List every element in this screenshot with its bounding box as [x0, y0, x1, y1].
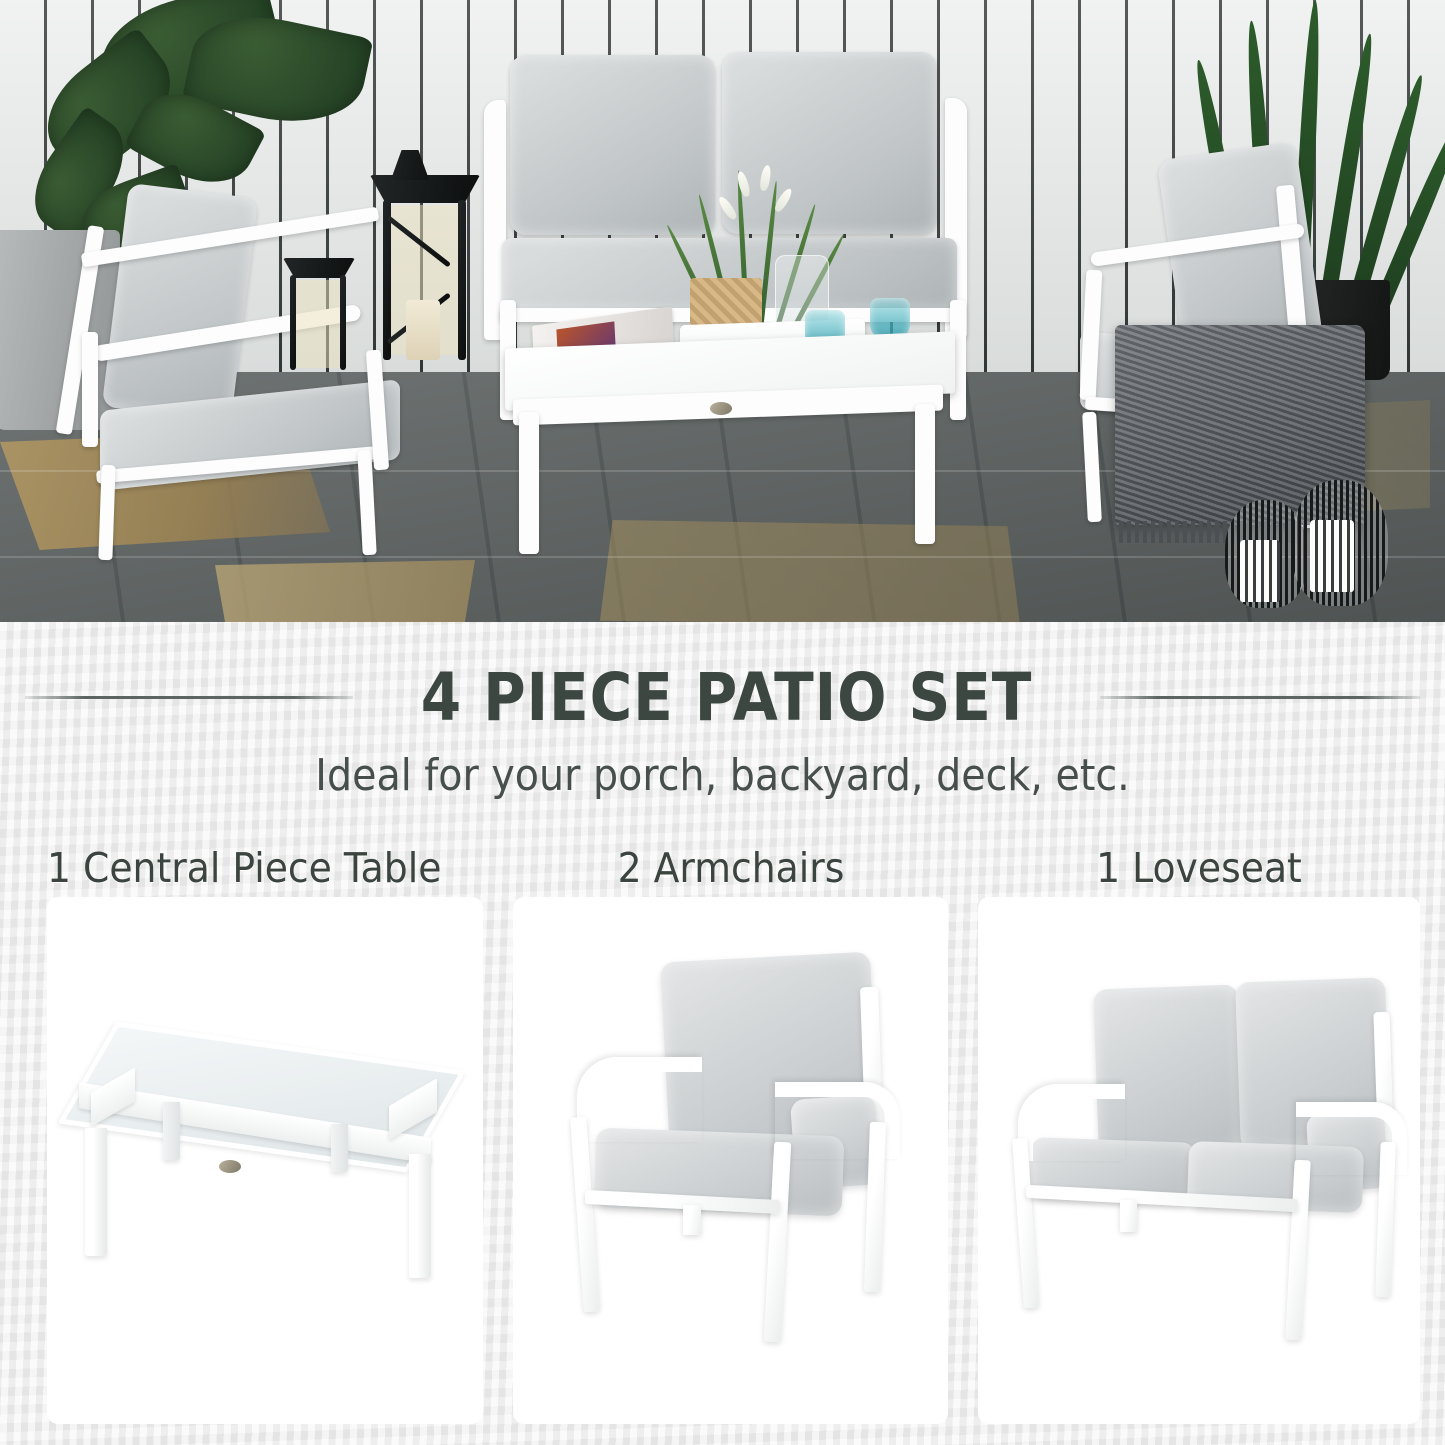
item-labels: 1 Central Piece Table 2 Armchairs 1 Love… [0, 844, 1445, 896]
brand-badge [219, 1160, 241, 1173]
lantern-post [383, 200, 391, 360]
product-image-armchair [555, 947, 915, 1387]
arm-front-post [82, 332, 98, 447]
item-label-table: 1 Central Piece Table [47, 844, 441, 892]
brand-badge [710, 402, 732, 415]
product-infographic: 4 PIECE PATIO SET Ideal for your porch, … [0, 0, 1445, 1445]
photo-coffee-table [505, 340, 955, 555]
lantern-glass-small [296, 280, 340, 368]
item-label-armchairs: 2 Armchairs [530, 844, 931, 892]
product-card-loveseat [978, 897, 1420, 1424]
page-subtitle: Ideal for your porch, backyard, deck, et… [72, 750, 1373, 801]
back-cushion [102, 183, 258, 422]
back-cushion-left [510, 55, 715, 235]
divider-right [1100, 696, 1420, 699]
table-leg-front-right [409, 1154, 431, 1278]
armrest-left [577, 1057, 702, 1142]
item-label-loveseat: 1 Loveseat [996, 844, 1403, 892]
armrest-left [1018, 1084, 1125, 1161]
pillar-candle [406, 300, 440, 360]
product-card-table [47, 897, 483, 1424]
table-leg-back-right [331, 1124, 348, 1172]
table-leg-back-left [163, 1102, 180, 1160]
divider-left [25, 696, 353, 699]
paver-sandstone-4 [215, 560, 475, 622]
leg-front-left [1082, 412, 1102, 523]
page-title: 4 PIECE PATIO SET [421, 659, 1033, 736]
striped-candle-1 [1240, 540, 1280, 602]
title-row: 4 PIECE PATIO SET [0, 658, 1445, 736]
center-support [683, 1205, 701, 1235]
striped-candle-2 [1310, 520, 1354, 592]
hero-lifestyle-photo [0, 0, 1445, 622]
product-card-armchair [513, 897, 948, 1424]
lantern-post-small [340, 275, 346, 370]
leg-front-left [98, 465, 115, 560]
lantern-post [458, 200, 466, 360]
photo-armchair-left [60, 200, 430, 560]
product-image-table [69, 1032, 461, 1277]
table-leg-front-left [85, 1128, 107, 1256]
product-image-loveseat [1008, 972, 1398, 1367]
table-leg-front-left [519, 412, 539, 554]
table-leg-front-right [915, 404, 935, 544]
center-support [1120, 1200, 1137, 1232]
info-panel: 4 PIECE PATIO SET Ideal for your porch, … [0, 622, 1445, 1445]
